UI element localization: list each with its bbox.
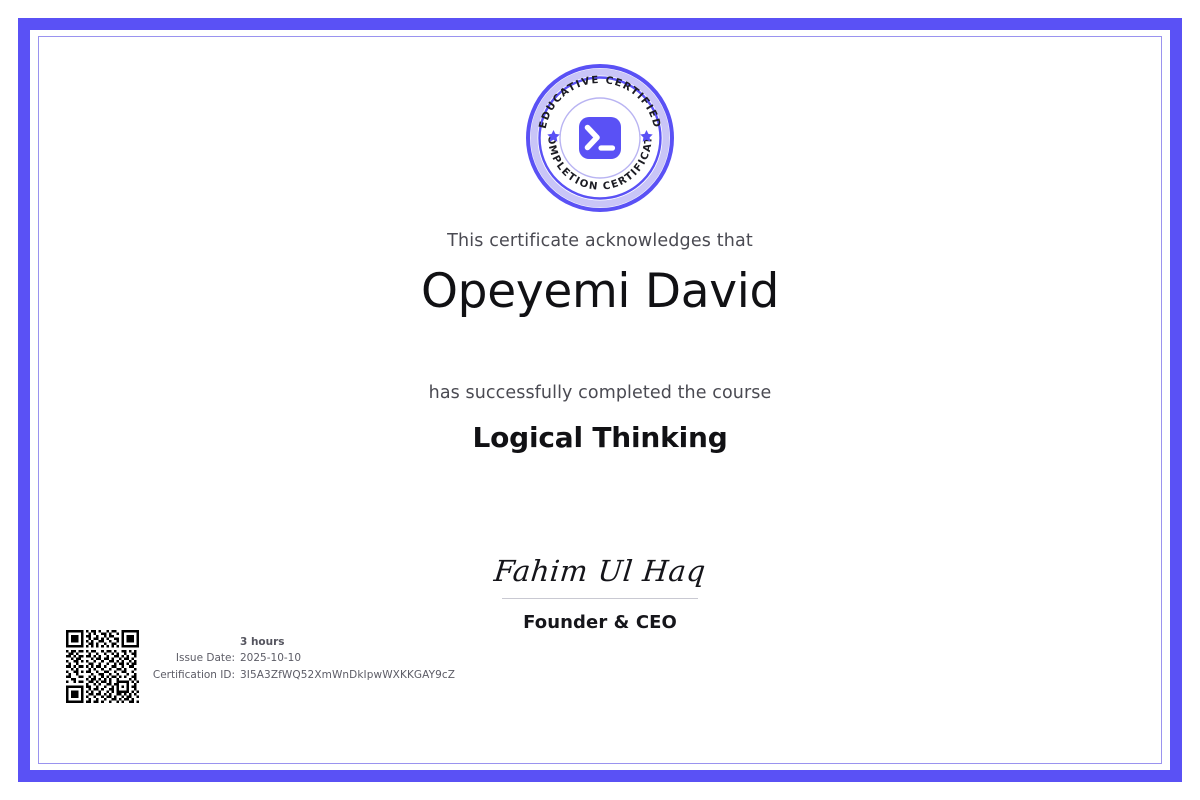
completion-line: has successfully completed the course (38, 383, 1162, 403)
signature-name: Fahim Ul Haq (492, 556, 707, 592)
certificate-content: EDUCATIVE CERTIFIED COMPLETION CERTIFICA… (38, 36, 1162, 764)
certificate-page: EDUCATIVE CERTIFIED COMPLETION CERTIFICA… (0, 0, 1200, 800)
course-title: Logical Thinking (38, 421, 1162, 454)
certification-id-label: Certification ID: (151, 667, 235, 683)
recipient-name: Opeyemi David (38, 264, 1162, 319)
certification-id-value: 3I5A3ZfWQ52XmWnDkIpwWXKKGAY9cZ (240, 667, 455, 683)
certificate-seal: EDUCATIVE CERTIFIED COMPLETION CERTIFICA… (38, 62, 1162, 214)
duration-value: 3 hours (240, 634, 285, 650)
terminal-prompt-icon (579, 117, 621, 159)
certification-id-row: Certification ID: 3I5A3ZfWQ52XmWnDkIpwWX… (151, 667, 455, 683)
issue-date-row: Issue Date: 2025-10-10 (151, 650, 455, 666)
signature-block: Fahim Ul Haq Founder & CEO (38, 556, 1162, 633)
certificate-footer: Duration: 3 hours Issue Date: 2025-10-10… (66, 630, 455, 703)
signature-divider (502, 598, 698, 599)
duration-row: Duration: 3 hours (151, 634, 455, 650)
certificate-metadata: Duration: 3 hours Issue Date: 2025-10-10… (151, 634, 455, 683)
issue-date-label: Issue Date: (151, 650, 235, 666)
issue-date-value: 2025-10-10 (240, 650, 301, 666)
signature-role: Founder & CEO (523, 612, 677, 633)
seal-graphic: EDUCATIVE CERTIFIED COMPLETION CERTIFICA… (524, 62, 676, 214)
qr-code-graphic (66, 630, 139, 703)
acknowledgement-line: This certificate acknowledges that (38, 231, 1162, 251)
qr-code[interactable] (66, 630, 139, 703)
